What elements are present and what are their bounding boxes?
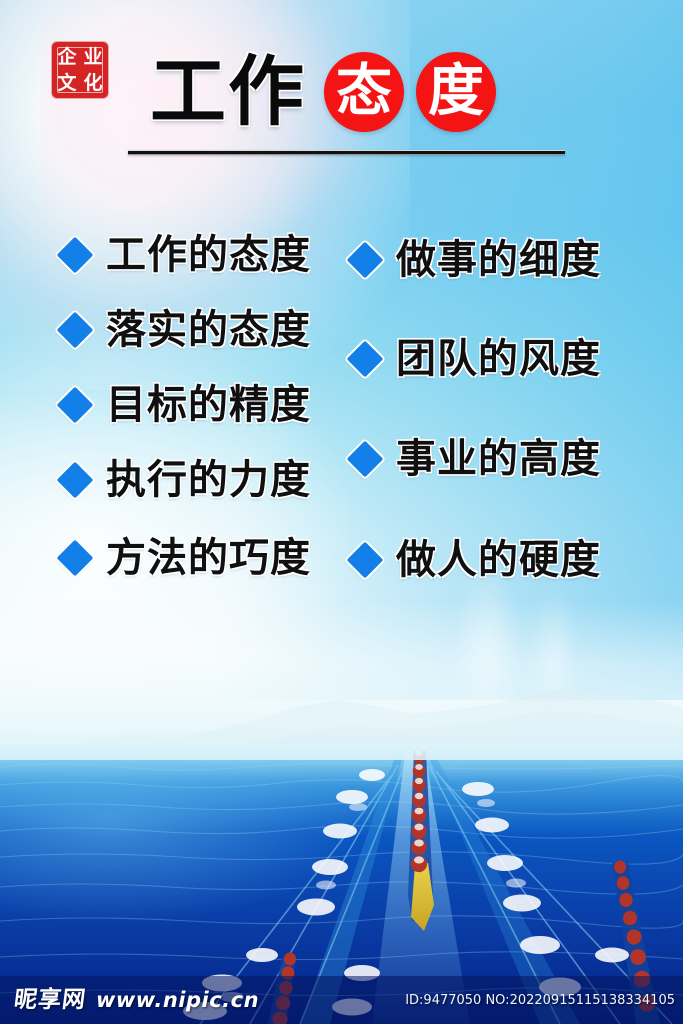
list-item-label: 事业的高度 — [396, 439, 601, 479]
poster-canvas: 企 业 文 化 工作 态 度 工作的态度 落实的态度 目标的精度 执行 — [0, 0, 683, 1024]
diamond-bullet-icon — [347, 441, 384, 478]
diamond-bullet-icon — [347, 341, 384, 378]
list-item: 方法的巧度 — [62, 538, 311, 578]
list-item-label: 执行的力度 — [106, 460, 311, 500]
list-item: 落实的态度 — [62, 310, 311, 350]
list-item-label: 工作的态度 — [106, 235, 311, 275]
list-item: 团队的风度 — [352, 339, 601, 379]
diamond-bullet-icon — [57, 387, 94, 424]
list-item: 执行的力度 — [62, 460, 311, 500]
horizon-haze — [0, 600, 683, 760]
list-item: 做人的硬度 — [352, 540, 601, 580]
list-item-label: 目标的精度 — [106, 385, 311, 425]
list-item-label: 落实的态度 — [106, 310, 311, 350]
diamond-bullet-icon — [57, 237, 94, 274]
list-item: 事业的高度 — [352, 439, 601, 479]
diamond-bullet-icon — [57, 540, 94, 577]
diamond-bullet-icon — [57, 312, 94, 349]
asset-id-text: ID:9477050 NO:20220915115138334105 — [405, 994, 675, 1007]
list-item: 目标的精度 — [62, 385, 311, 425]
list-item-label: 团队的风度 — [396, 339, 601, 379]
watermark-site-name: 昵享网 — [13, 989, 88, 1012]
bullet-list: 工作的态度 落实的态度 目标的精度 执行的力度 方法的巧度 做事的细度 团队的风… — [0, 0, 683, 620]
list-item-label: 方法的巧度 — [106, 538, 311, 578]
watermark-footer: 昵享网 www.nipic.cn ID:9477050 NO:202209151… — [0, 976, 683, 1024]
diamond-bullet-icon — [57, 462, 94, 499]
list-item-label: 做事的细度 — [396, 240, 601, 280]
diamond-bullet-icon — [347, 242, 384, 279]
diamond-bullet-icon — [347, 542, 384, 579]
list-item: 做事的细度 — [352, 240, 601, 280]
watermark-url: www.nipic.cn — [96, 990, 259, 1011]
list-item-label: 做人的硬度 — [396, 540, 601, 580]
list-item: 工作的态度 — [62, 235, 311, 275]
